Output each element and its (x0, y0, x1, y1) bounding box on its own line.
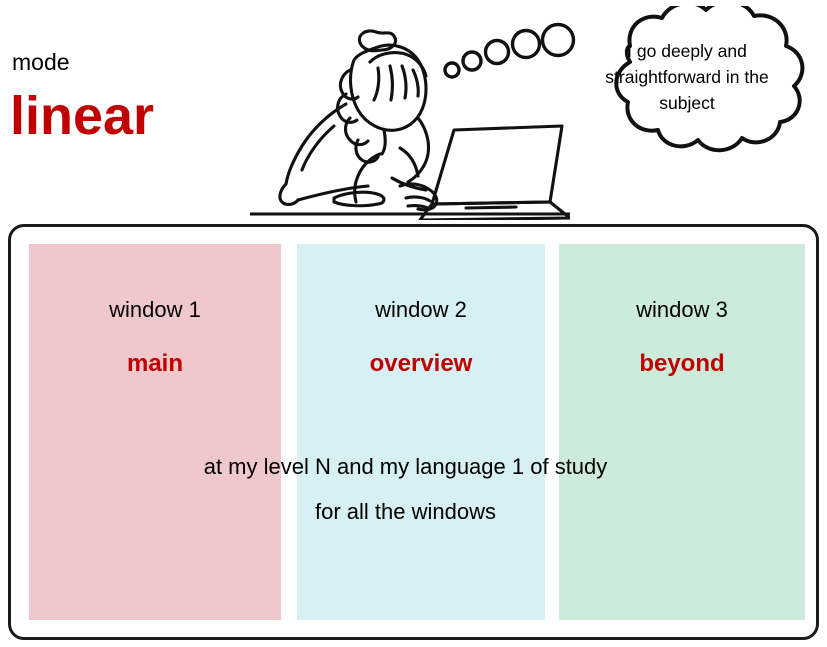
thought-dots-icon (440, 16, 580, 82)
header-area: mode linear (0, 0, 827, 222)
window-2-kind: overview (297, 349, 545, 379)
mode-value: linear (10, 84, 154, 148)
window-3-kind: beyond (559, 349, 805, 379)
window-3-title: window 3 (559, 296, 805, 324)
mode-label: mode (12, 48, 70, 76)
window-1-title: window 1 (29, 296, 281, 324)
window-1-kind: main (29, 349, 281, 379)
window-column-3[interactable]: window 3 beyond (559, 244, 805, 620)
window-column-1[interactable]: window 1 main (29, 244, 281, 620)
thought-bubble-text: I go deeply and straightforward in the s… (592, 38, 782, 116)
window-column-2[interactable]: window 2 overview (297, 244, 545, 620)
windows-panel: window 1 main window 2 overview window 3… (8, 224, 819, 640)
window-2-title: window 2 (297, 296, 545, 324)
